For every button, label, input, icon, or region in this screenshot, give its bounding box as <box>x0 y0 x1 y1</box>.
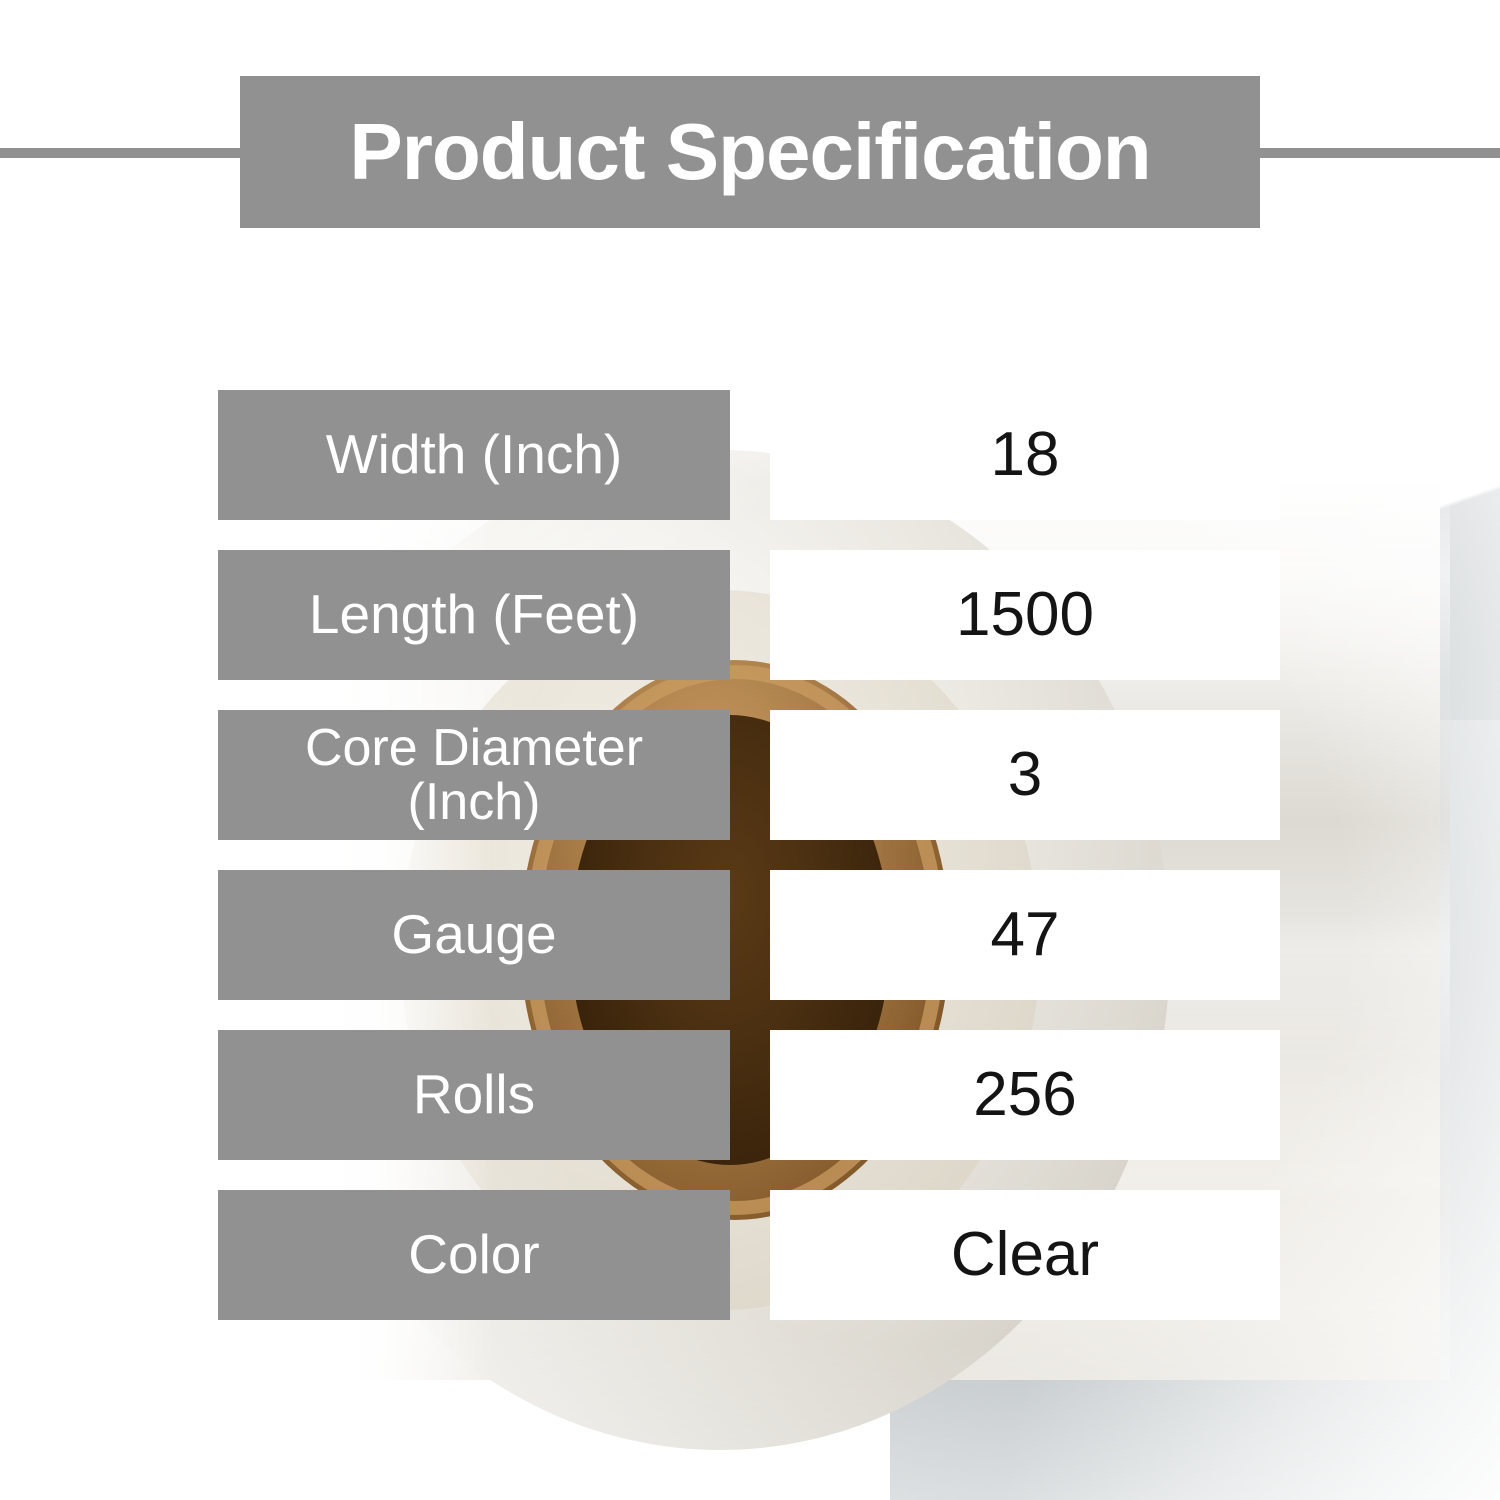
spec-value-length: 1500 <box>770 550 1280 680</box>
spec-value-text: Clear <box>951 1224 1099 1286</box>
spec-value-text: 256 <box>973 1064 1076 1126</box>
title-banner: Product Specification <box>240 76 1260 228</box>
spec-label-width: Width (Inch) <box>218 390 730 520</box>
spec-label-text: Length (Feet) <box>309 586 639 643</box>
spec-value-width: 18 <box>770 390 1280 520</box>
specification-table: Width (Inch) 18 Length (Feet) 1500 Core … <box>0 390 1500 1350</box>
spec-value-gauge: 47 <box>770 870 1280 1000</box>
spec-label-text: Gauge <box>391 906 556 963</box>
spec-value-color: Clear <box>770 1190 1280 1320</box>
spec-label-gauge: Gauge <box>218 870 730 1000</box>
table-row: Core Diameter (Inch) 3 <box>0 710 1500 840</box>
spec-value-rolls: 256 <box>770 1030 1280 1160</box>
product-specification-page: Product Specification Width (Inch) 18 Le… <box>0 0 1500 1500</box>
spec-label-text: Rolls <box>413 1066 535 1123</box>
page-title: Product Specification <box>349 112 1150 192</box>
table-row: Rolls 256 <box>0 1030 1500 1160</box>
table-row: Width (Inch) 18 <box>0 390 1500 520</box>
spec-label-text: Color <box>408 1226 539 1283</box>
spec-label-length: Length (Feet) <box>218 550 730 680</box>
spec-value-text: 47 <box>991 904 1060 966</box>
spec-value-text: 3 <box>1008 744 1042 806</box>
spec-value-text: 18 <box>991 424 1060 486</box>
table-row: Color Clear <box>0 1190 1500 1320</box>
table-row: Length (Feet) 1500 <box>0 550 1500 680</box>
spec-label-text: Width (Inch) <box>326 426 622 483</box>
spec-label-rolls: Rolls <box>218 1030 730 1160</box>
spec-value-core-diameter: 3 <box>770 710 1280 840</box>
spec-label-color: Color <box>218 1190 730 1320</box>
spec-label-text: Core Diameter (Inch) <box>305 721 643 829</box>
spec-label-core-diameter: Core Diameter (Inch) <box>218 710 730 840</box>
spec-value-text: 1500 <box>956 584 1094 646</box>
table-row: Gauge 47 <box>0 870 1500 1000</box>
